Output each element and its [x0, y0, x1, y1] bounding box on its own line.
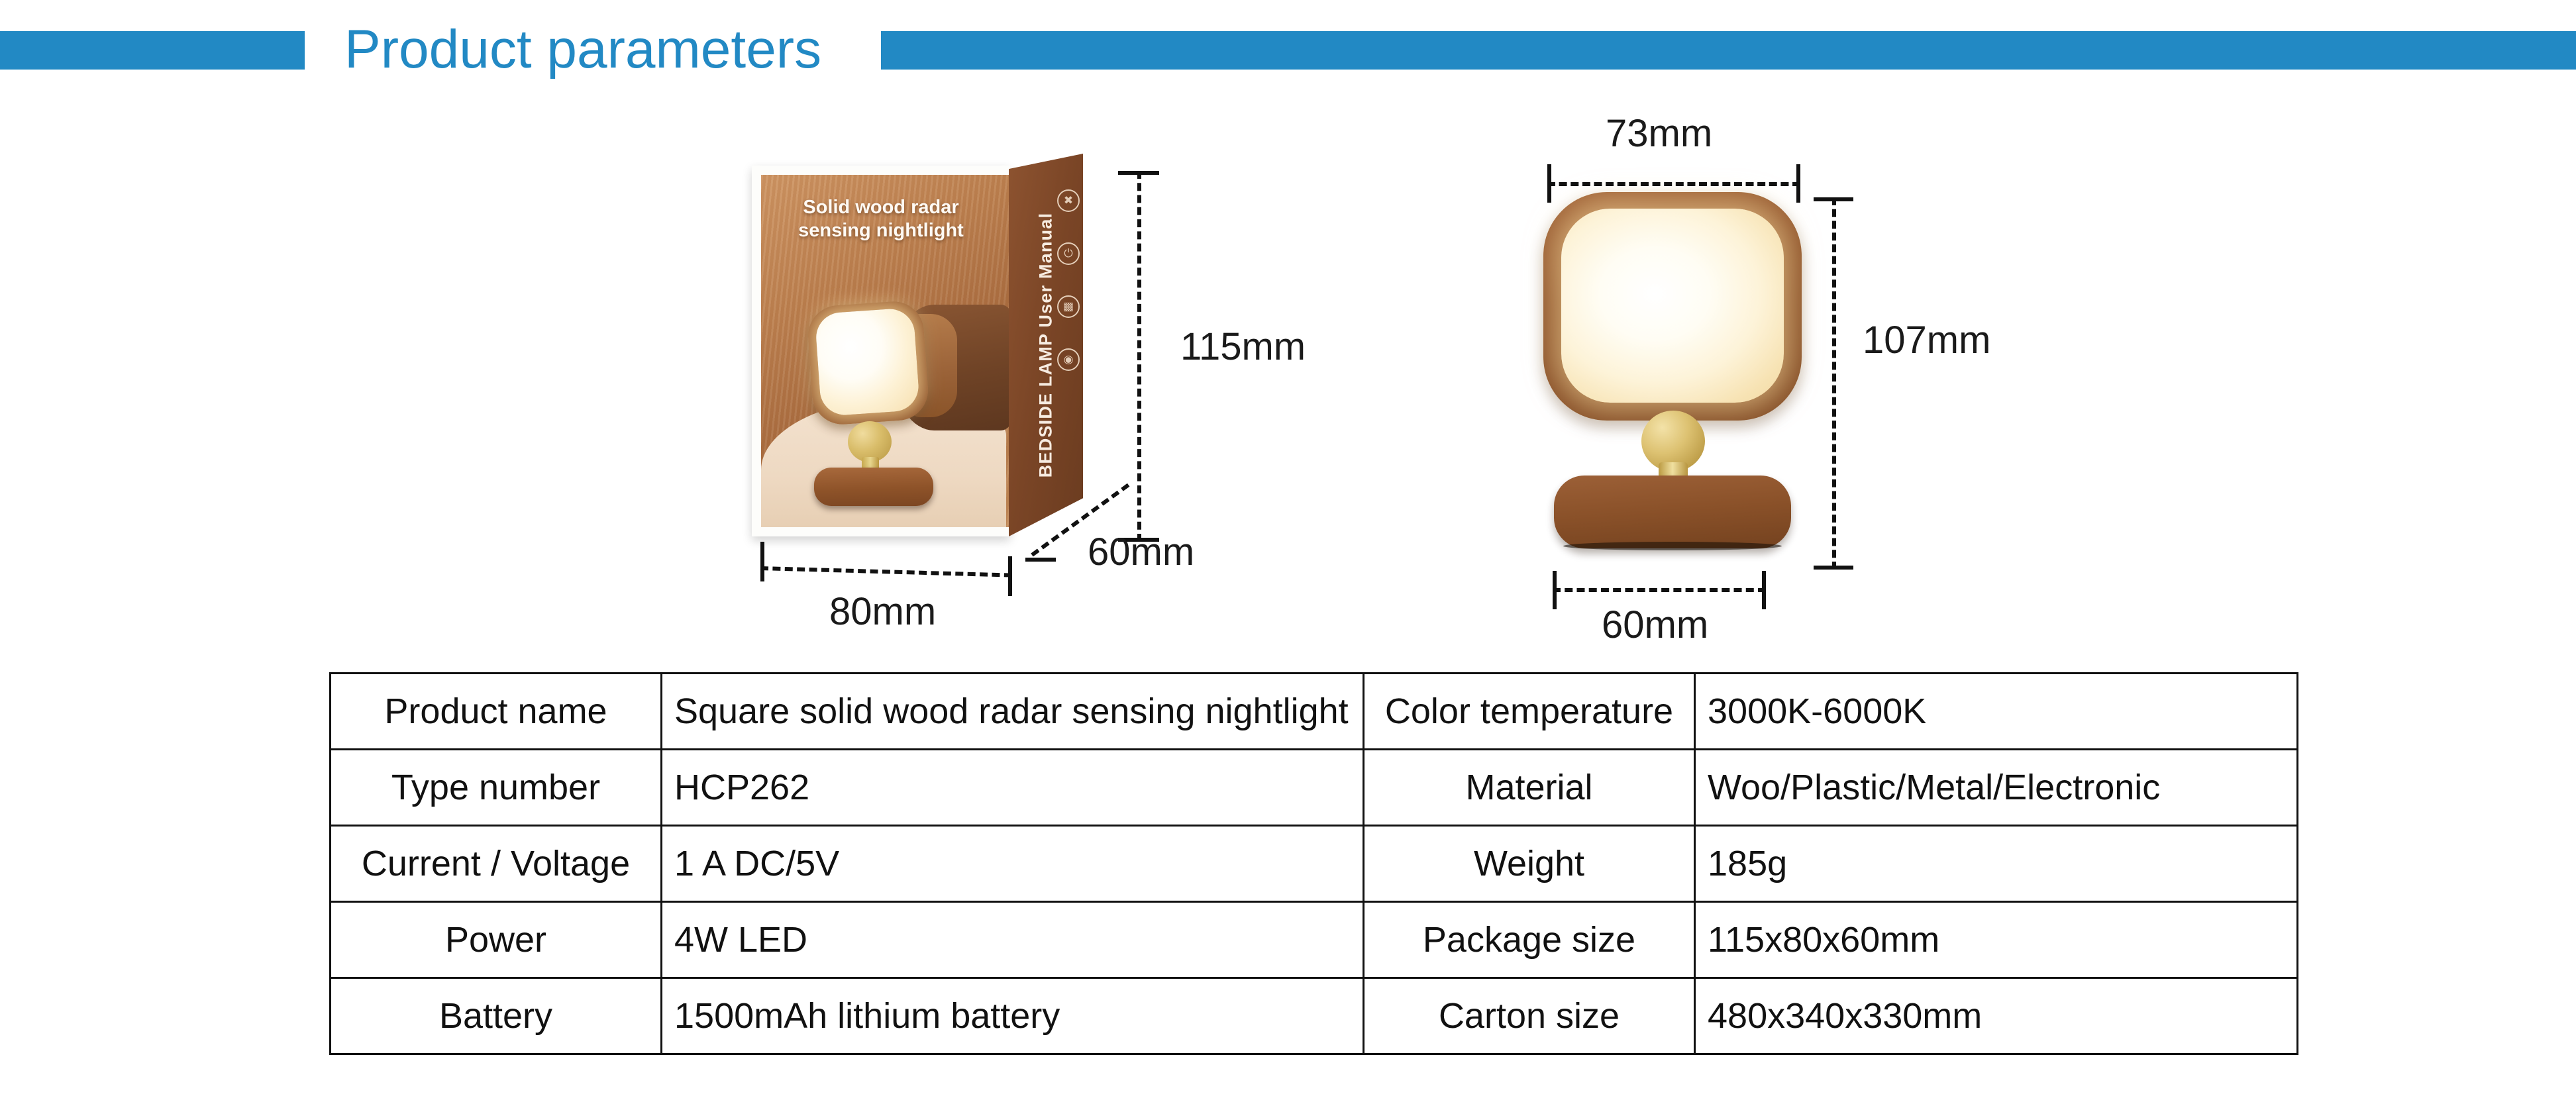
- package-width-tick-right: [1008, 556, 1012, 596]
- battery-icon: ⏻: [1057, 242, 1080, 265]
- lamp-top-width-tick-right: [1796, 164, 1800, 203]
- spec-table: Product name Square solid wood radar sen…: [329, 672, 2298, 1055]
- package-spine-title: BEDSIDE LAMP User Manual: [1036, 213, 1056, 477]
- header-bar-right: [881, 31, 2576, 70]
- package-depth-tick: [1025, 558, 1056, 562]
- lamp-height-dashed-line: [1832, 197, 1836, 570]
- table-row: Current / Voltage 1 A DC/5V Weight 185g: [331, 826, 2298, 902]
- spec-value: 3000K-6000K: [1695, 674, 2298, 750]
- spec-key: Battery: [331, 978, 662, 1054]
- lamp-base-width-dashed-line: [1553, 588, 1766, 592]
- package-width-tick-left: [760, 542, 764, 581]
- lamp-base-width-tick-right: [1762, 571, 1766, 609]
- package-width-dashed-line: [760, 566, 1012, 577]
- package-box-illustration: Solid wood radar sensing nightlight BEDS…: [752, 154, 1096, 538]
- lamp-base-width-label: 60mm: [1602, 603, 1708, 647]
- spec-value: 480x340x330mm: [1695, 978, 2298, 1054]
- spec-value: 4W LED: [662, 902, 1364, 978]
- sensor-icon: ◉: [1057, 348, 1080, 371]
- lamp-head-frame: [1543, 192, 1802, 421]
- spec-value: 1500mAh lithium battery: [662, 978, 1364, 1054]
- spec-value: Square solid wood radar sensing nightlig…: [662, 674, 1364, 750]
- header-bar-left: [0, 31, 305, 70]
- lamp-height-tick-bottom: [1814, 566, 1853, 570]
- spec-value: HCP262: [662, 750, 1364, 826]
- spec-key: Carton size: [1364, 978, 1695, 1054]
- lamp-top-width-dashed-line: [1547, 182, 1800, 186]
- package-height-dashed-line: [1137, 171, 1141, 542]
- section-header: Product parameters: [0, 26, 2576, 93]
- spec-key: Weight: [1364, 826, 1695, 902]
- package-white-border: [752, 166, 1010, 536]
- lamp-height-label: 107mm: [1863, 318, 1990, 362]
- page-title: Product parameters: [344, 19, 821, 81]
- table-row: Power 4W LED Package size 115x80x60mm: [331, 902, 2298, 978]
- package-depth-label: 60mm: [1088, 530, 1194, 574]
- spec-key: Current / Voltage: [331, 826, 662, 902]
- package-width-label: 80mm: [829, 589, 936, 634]
- product-parameters-page: Product parameters Solid wood ra: [0, 0, 2576, 1104]
- spec-key: Type number: [331, 750, 662, 826]
- table-row: Battery 1500mAh lithium battery Carton s…: [331, 978, 2298, 1054]
- spec-value: 185g: [1695, 826, 2298, 902]
- spec-key: Product name: [331, 674, 662, 750]
- table-row: Product name Square solid wood radar sen…: [331, 674, 2298, 750]
- spec-key: Package size: [1364, 902, 1695, 978]
- spec-table-body: Product name Square solid wood radar sen…: [331, 674, 2298, 1054]
- spec-value: 1 A DC/5V: [662, 826, 1364, 902]
- package-height-label: 115mm: [1180, 325, 1306, 369]
- tools-icon: ✖: [1057, 189, 1080, 212]
- package-spine-panel: BEDSIDE LAMP User Manual ✖ ⏻ ▩ ◉: [1009, 154, 1083, 536]
- lamp-light-panel: [1561, 209, 1784, 403]
- package-front-face: Solid wood radar sensing nightlight: [752, 166, 1010, 536]
- magnet-icon: ▩: [1057, 295, 1080, 318]
- package-feature-icon-list: ✖ ⏻ ▩ ◉: [1057, 189, 1080, 371]
- table-row: Type number HCP262 Material Woo/Plastic/…: [331, 750, 2298, 826]
- lamp-illustration: [1543, 192, 1822, 576]
- lamp-top-width-label: 73mm: [1606, 111, 1712, 156]
- lamp-base-shadow: [1563, 542, 1782, 550]
- spec-key: Material: [1364, 750, 1695, 826]
- spec-key: Color temperature: [1364, 674, 1695, 750]
- lamp-base: [1554, 476, 1791, 548]
- spec-key: Power: [331, 902, 662, 978]
- spec-value: 115x80x60mm: [1695, 902, 2298, 978]
- spec-value: Woo/Plastic/Metal/Electronic: [1695, 750, 2298, 826]
